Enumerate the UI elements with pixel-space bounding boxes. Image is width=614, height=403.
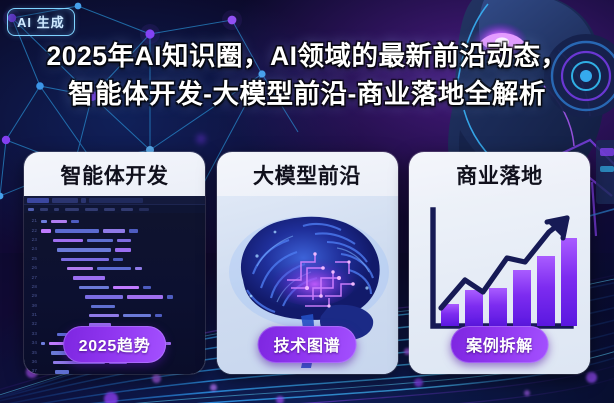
feature-card-agent-dev[interactable]: 智能体开发 [24, 152, 205, 374]
poster-root: AI 生成 2025年AI知识圈，AI领域的最新前沿动态， 智能体开发-大模型前… [0, 0, 614, 403]
card-pill-button[interactable]: 案例拆解 [450, 326, 549, 363]
feature-card-list: 智能体开发 [0, 152, 614, 376]
page-title: 2025年AI知识圈，AI领域的最新前沿动态， 智能体开发-大模型前沿-商业落地… [0, 38, 614, 113]
card-title: 商业落地 [409, 152, 590, 198]
bokeh-dot [276, 396, 284, 403]
card-title: 智能体开发 [24, 152, 205, 198]
feature-card-commercial[interactable]: 商业落地 [409, 152, 590, 374]
card-pill-button[interactable]: 2025趋势 [63, 326, 167, 363]
bokeh-dot [414, 378, 423, 387]
bokeh-dot [196, 134, 206, 144]
ai-generated-badge: AI 生成 [7, 8, 75, 36]
bokeh-dot [104, 392, 118, 403]
bokeh-dot [524, 390, 530, 396]
headline-line-2: 智能体开发-大模型前沿-商业落地全解析 [14, 76, 600, 114]
feature-card-llm-frontier[interactable]: 大模型前沿 [217, 152, 398, 374]
card-title: 大模型前沿 [217, 152, 398, 198]
headline-line-1: 2025年AI知识圈，AI领域的最新前沿动态， [14, 38, 600, 76]
bokeh-dot [210, 384, 217, 391]
card-pill-button[interactable]: 技术图谱 [258, 326, 357, 363]
